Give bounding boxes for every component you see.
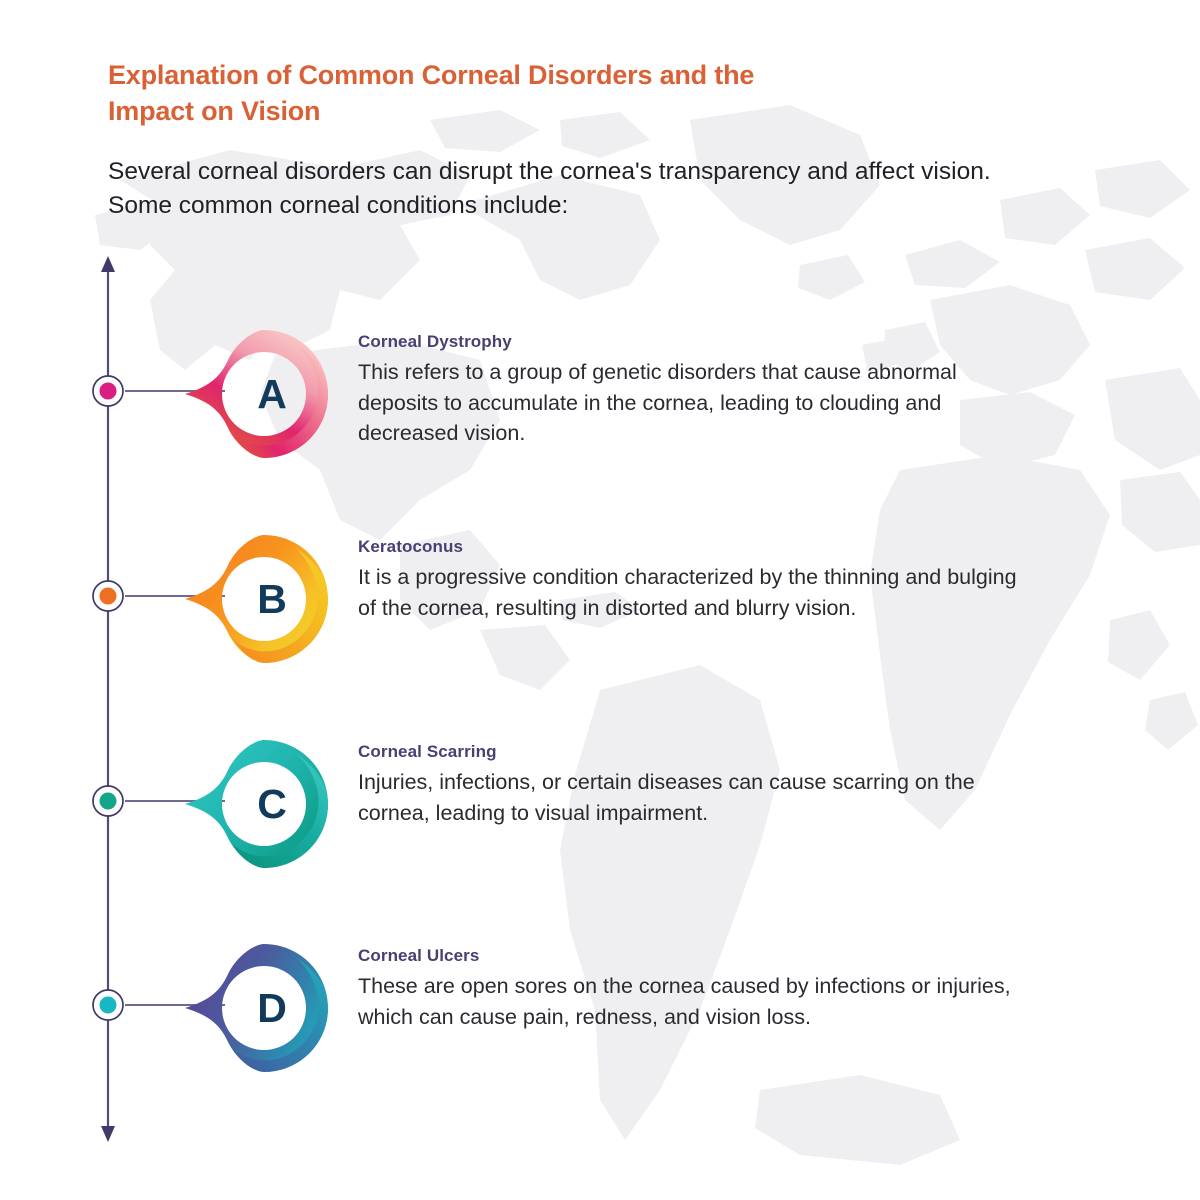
badge-a[interactable]: A: [185, 330, 337, 458]
page-title-line-2: Impact on Vision: [108, 96, 320, 126]
badge-b[interactable]: B: [185, 535, 337, 663]
page-subtitle: Several corneal disorders can disrupt th…: [108, 155, 1053, 223]
page-title: Explanation of Common Corneal Disorders …: [108, 58, 988, 129]
timeline-item-b[interactable]: B Keratoconus It is a progressive condit…: [0, 535, 1200, 685]
timeline-text-b: Keratoconus It is a progressive conditio…: [358, 537, 1018, 623]
timeline-node-dot-c[interactable]: [90, 783, 126, 819]
badge-d-letter: D: [185, 944, 337, 1072]
page-title-line-1: Explanation of Common Corneal Disorders …: [108, 60, 754, 90]
timeline-node-dot-a[interactable]: [90, 373, 126, 409]
timeline-node-dot-b[interactable]: [90, 578, 126, 614]
timeline-heading-b: Keratoconus: [358, 537, 1018, 557]
arrow-up-icon: [101, 256, 115, 272]
timeline-item-d[interactable]: D Corneal Ulcers These are open sores on…: [0, 944, 1200, 1094]
timeline-text-c: Corneal Scarring Injuries, infections, o…: [358, 742, 1018, 828]
timeline-heading-d: Corneal Ulcers: [358, 946, 1018, 966]
timeline-heading-a: Corneal Dystrophy: [358, 332, 1018, 352]
timeline-item-c[interactable]: C Corneal Scarring Injuries, infections,…: [0, 740, 1200, 890]
page-header: Explanation of Common Corneal Disorders …: [108, 58, 988, 129]
timeline-body-a: This refers to a group of genetic disord…: [358, 357, 1018, 449]
badge-b-letter: B: [185, 535, 337, 663]
arrow-down-icon: [101, 1126, 115, 1142]
badge-c[interactable]: C: [185, 740, 337, 868]
timeline-node-dot-d[interactable]: [90, 987, 126, 1023]
timeline-text-d: Corneal Ulcers These are open sores on t…: [358, 946, 1018, 1032]
timeline-heading-c: Corneal Scarring: [358, 742, 1018, 762]
timeline-body-d: These are open sores on the cornea cause…: [358, 971, 1018, 1032]
timeline-body-b: It is a progressive condition characteri…: [358, 562, 1018, 623]
badge-c-letter: C: [185, 740, 337, 868]
timeline-body-c: Injuries, infections, or certain disease…: [358, 767, 1018, 828]
badge-d[interactable]: D: [185, 944, 337, 1072]
badge-a-letter: A: [185, 330, 337, 458]
timeline-item-a[interactable]: A Corneal Dystrophy This refers to a gro…: [0, 330, 1200, 480]
timeline-text-a: Corneal Dystrophy This refers to a group…: [358, 332, 1018, 449]
